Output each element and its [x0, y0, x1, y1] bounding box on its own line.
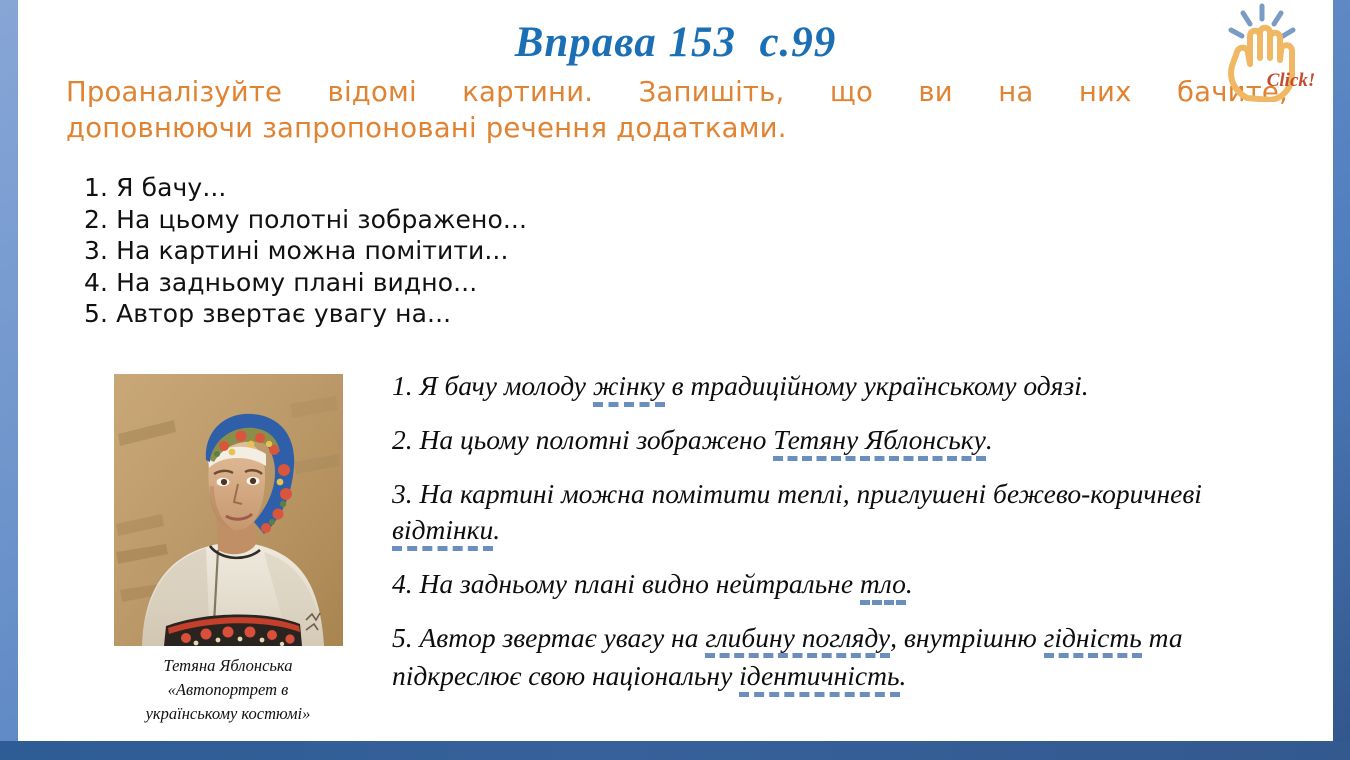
answer-4: 4. На задньому плані видно нейтральне тл…: [392, 566, 1292, 605]
answer-5-underlined-object: гідність: [1044, 624, 1142, 659]
prompt-item-1: 1. Я бачу...: [84, 172, 527, 204]
prompt-list: 1. Я бачу...2. На цьому полотні зображен…: [84, 172, 527, 330]
instruction-line-1: Проаналізуйте відомі картини. Запишіть, …: [66, 74, 1288, 110]
answer-1: 1. Я бачу молоду жінку в традиційному ук…: [392, 368, 1292, 407]
answer-1-text: 1. Я бачу молоду: [392, 370, 593, 401]
painting-svg: [114, 374, 343, 646]
prompt-item-3: 3. На картині можна помітити...: [84, 235, 527, 267]
slide-content-area: Click! Вправа 153 с.99 Проаналізуйте від…: [18, 0, 1333, 741]
slide-root: Click! Вправа 153 с.99 Проаналізуйте від…: [0, 0, 1350, 760]
answer-5-text: 5. Автор звертає увагу на: [392, 622, 705, 653]
answer-2: 2. На цьому полотні зображено Тетяну Ябл…: [392, 422, 1292, 461]
answer-5: 5. Автор звертає увагу на глибину погляд…: [392, 620, 1292, 698]
answer-list: 1. Я бачу молоду жінку в традиційному ук…: [392, 368, 1292, 697]
answer-5-text: , внутрішню: [890, 622, 1043, 653]
painting-image: [114, 374, 343, 646]
answer-4-underlined-object: тло: [860, 570, 906, 605]
caption-line-2: «Автопортрет в: [78, 678, 378, 702]
answer-1-text: в традиційному українському одязі.: [665, 370, 1089, 401]
painting-figure: [114, 374, 343, 646]
answer-2-text: 2. На цьому полотні зображено: [392, 424, 773, 455]
caption-line-3: українському костюмі»: [78, 702, 378, 726]
answer-5-underlined-object: глибину погляду: [705, 624, 890, 659]
answer-2-text: .: [986, 424, 993, 455]
answer-4-text: 4. На задньому плані видно нейтральне: [392, 568, 860, 599]
figure-caption: Тетяна Яблонська «Автопортрет в українсь…: [78, 654, 378, 726]
instruction-line-2: доповнюючи запропоновані речення додатка…: [66, 110, 1288, 146]
answer-5-underlined-object: ідентичність: [739, 662, 899, 697]
answer-4-text: .: [906, 568, 913, 599]
prompt-item-2: 2. На цьому полотні зображено...: [84, 204, 527, 236]
answer-5-text: .: [900, 660, 907, 691]
slide-bottom-band: [0, 741, 1350, 760]
answer-3: 3. На картині можна помітити теплі, приг…: [392, 476, 1292, 551]
page-title: Вправа 153 с.99: [18, 18, 1333, 67]
prompt-item-4: 4. На задньому плані видно...: [84, 267, 527, 299]
answer-2-underlined-object: Тетяну Яблонську: [773, 426, 986, 461]
prompt-item-5: 5. Автор звертає увагу на...: [84, 298, 527, 330]
answer-1-underlined-object: жінку: [593, 372, 665, 407]
instruction-text: Проаналізуйте відомі картини. Запишіть, …: [66, 74, 1288, 146]
answer-3-text: 3. На картині можна помітити теплі, приг…: [392, 478, 1202, 509]
answer-3-underlined-object: відтінки: [392, 516, 493, 551]
answer-3-text: .: [493, 514, 500, 545]
caption-line-1: Тетяна Яблонська: [78, 654, 378, 678]
